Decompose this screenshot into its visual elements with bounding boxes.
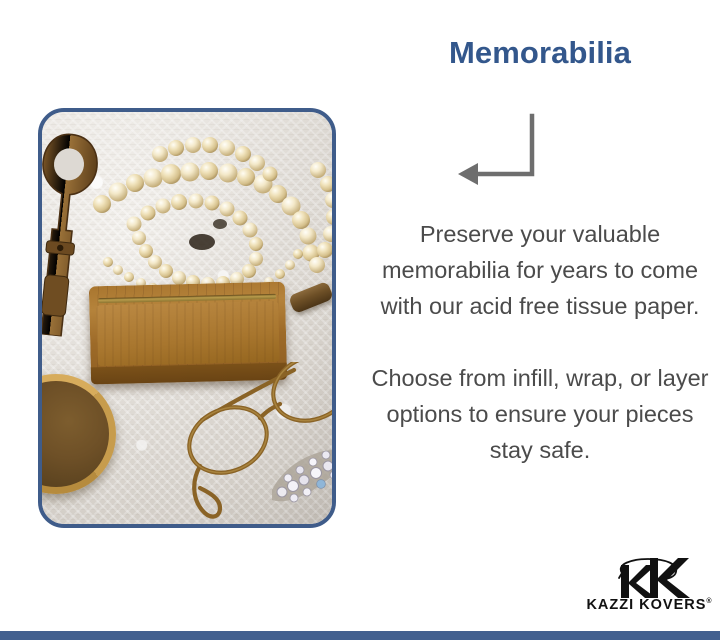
paragraph-2: Choose from infill, wrap, or layer optio…: [370, 360, 710, 468]
page-title: Memorabilia: [360, 33, 720, 73]
paragraph-1: Preserve your valuable memorabilia for y…: [370, 216, 710, 324]
box-lid-face: [96, 301, 279, 366]
rhinestone-brooch: [264, 434, 332, 514]
brand-wordmark-text: KAZZI KOVERS: [586, 597, 706, 613]
memorabilia-photo: [38, 108, 336, 528]
brand-logo: KAZZI KOVERS®: [586, 556, 712, 618]
right-column: Memorabilia Preserve your valuable memor…: [360, 0, 720, 640]
body-copy: Preserve your valuable memorabilia for y…: [370, 216, 710, 468]
registered-mark: ®: [706, 598, 711, 605]
brand-wordmark: KAZZI KOVERS®: [586, 597, 712, 613]
poster-canvas: Memorabilia Preserve your valuable memor…: [0, 0, 720, 640]
bottom-accent-bar: [0, 631, 720, 640]
elbow-arrow-left-icon: [452, 110, 542, 190]
photo-inner: [42, 112, 332, 524]
kazzi-kovers-monogram-icon: [586, 556, 712, 598]
